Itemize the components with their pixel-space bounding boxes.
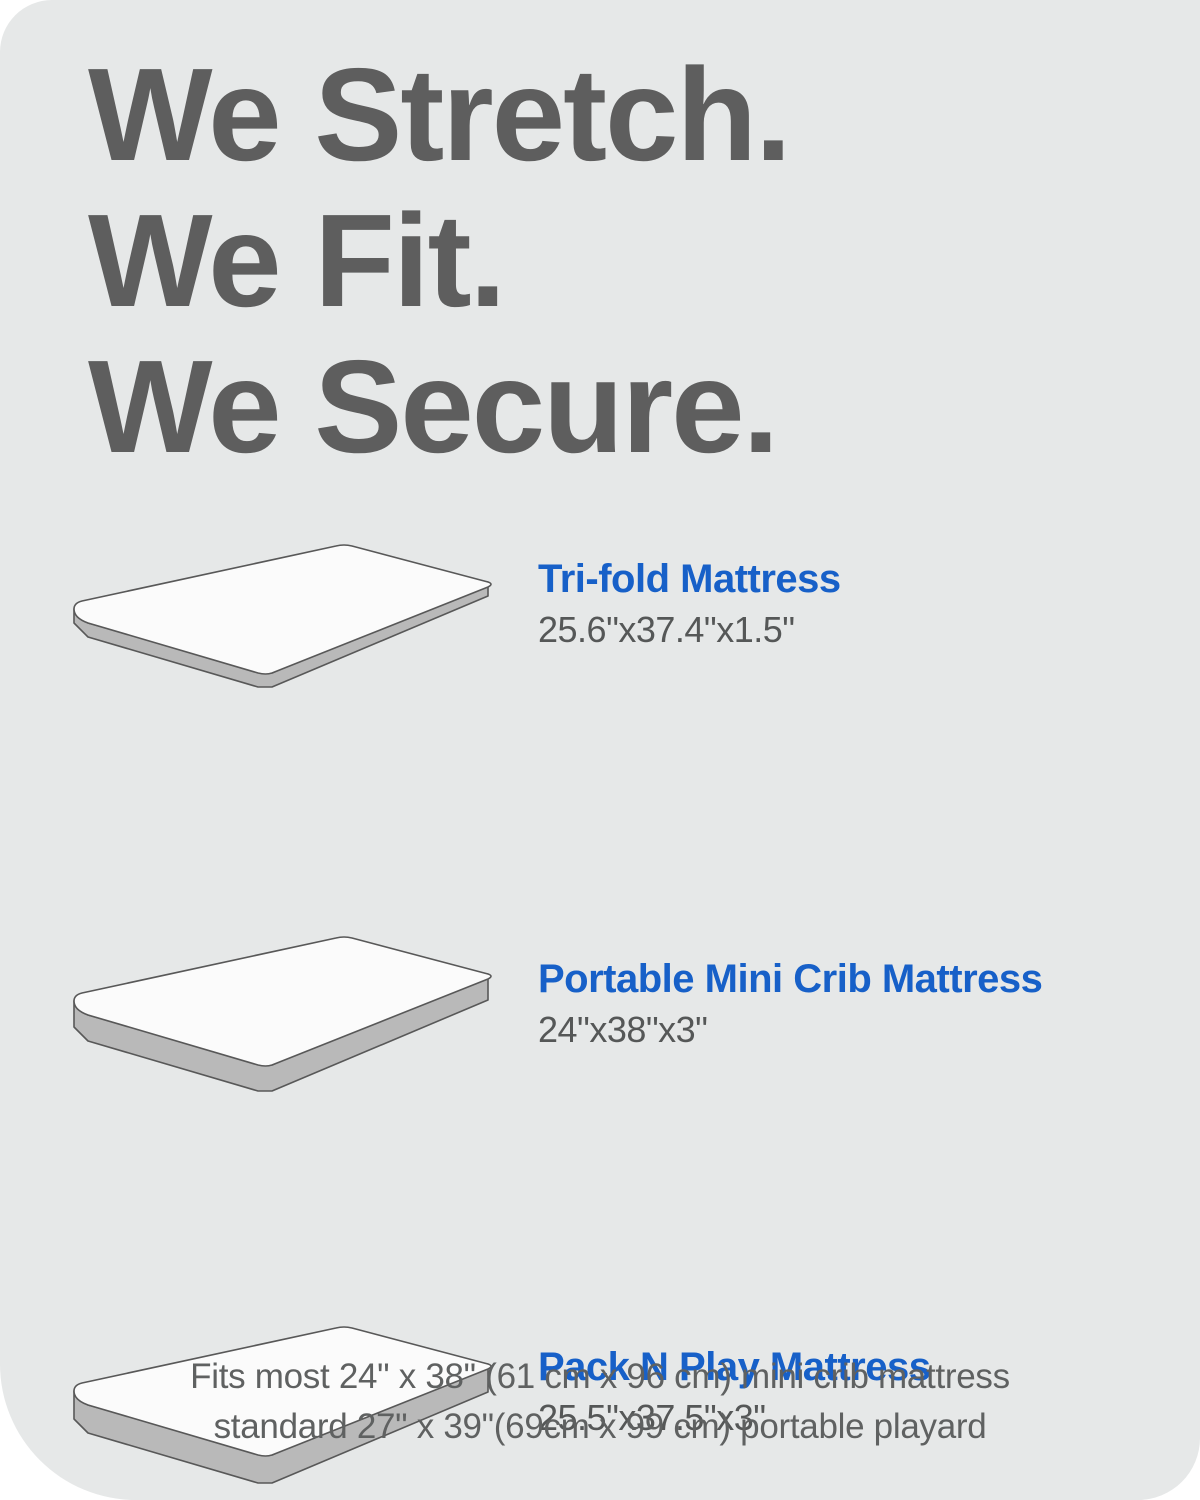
product-row: Portable Mini Crib Mattress 24"x38"x3" <box>0 716 1200 912</box>
product-list: Tri-fold Mattress 25.6"x37.4"x1.5" Porta… <box>0 520 1200 1304</box>
infographic-panel: We Stretch. We Fit. We Secure. Tri-fold … <box>0 0 1200 1500</box>
headline-line-1: We Stretch. <box>88 42 988 188</box>
product-row: Pack N Play Mattress 25.5"x37.5"x5" <box>0 1108 1200 1304</box>
product-dimensions: 25.6"x37.4"x1.5" <box>538 608 1178 652</box>
footer-note: Fits most 24" x 38" (61 cm x 96 cm) mini… <box>0 1352 1200 1452</box>
product-text-1: Tri-fold Mattress 25.6"x37.4"x1.5" <box>538 556 1178 652</box>
headline-block: We Stretch. We Fit. We Secure. <box>88 42 988 480</box>
product-name: Tri-fold Mattress <box>538 556 1178 602</box>
mattress-illustration-1 <box>68 536 520 732</box>
mattress-3d-shape <box>74 545 491 687</box>
headline-line-3: We Secure. <box>88 334 988 480</box>
footer-line-1: Fits most 24" x 38" (61 cm x 96 cm) mini… <box>0 1352 1200 1402</box>
product-row: Tri-fold Mattress 25.6"x37.4"x1.5" <box>0 520 1200 716</box>
product-row: Pack N Play Mattress 25.5"x37.5"x3" <box>0 912 1200 1108</box>
footer-line-2: standard 27" x 39"(69cm x 99 cm) portabl… <box>0 1402 1200 1452</box>
headline-line-2: We Fit. <box>88 188 988 334</box>
